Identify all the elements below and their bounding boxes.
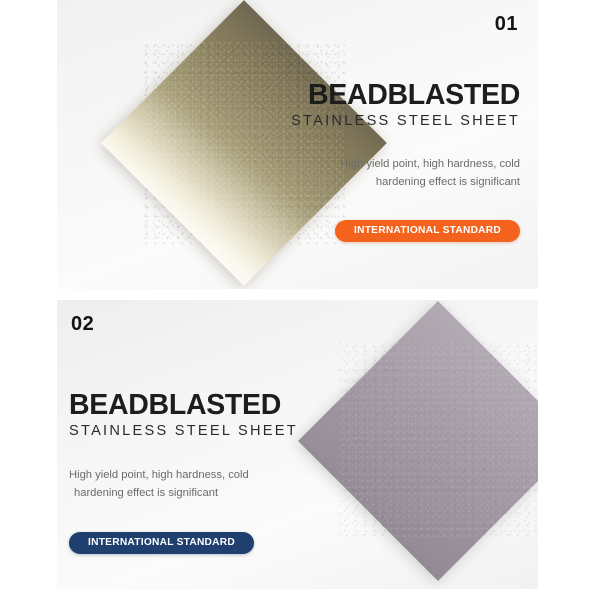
product-description: High yield point, high hardness, cold ha… — [210, 155, 520, 191]
panel-02-text-block: 02 BEADBLASTED STAINLESS STEEL SHEET Hig… — [69, 314, 389, 554]
description-line-2: hardening effect is significant — [69, 484, 389, 502]
panel-02-badge-row: INTERNATIONAL STANDARD — [69, 532, 389, 554]
status-badge-international-standard[interactable]: INTERNATIONAL STANDARD — [335, 220, 520, 242]
product-description: High yield point, high hardness, cold ha… — [69, 466, 389, 502]
page-subtitle: STAINLESS STEEL SHEET — [69, 423, 389, 439]
page-title: BEADBLASTED — [210, 81, 520, 111]
page-subtitle: STAINLESS STEEL SHEET — [210, 113, 520, 129]
panel-index-number: 02 — [71, 314, 389, 334]
panel-01-text-block: 01 BEADBLASTED STAINLESS STEEL SHEET Hig… — [210, 14, 520, 242]
panel-01-badge-row: INTERNATIONAL STANDARD — [210, 220, 520, 242]
description-line-1: High yield point, high hardness, cold — [69, 466, 389, 484]
description-line-2: hardening effect is significant — [210, 173, 520, 191]
status-badge-international-standard[interactable]: INTERNATIONAL STANDARD — [69, 532, 254, 554]
page-title: BEADBLASTED — [69, 391, 389, 421]
product-panel-02: 02 BEADBLASTED STAINLESS STEEL SHEET Hig… — [57, 300, 538, 589]
product-showcase-page: 01 BEADBLASTED STAINLESS STEEL SHEET Hig… — [0, 0, 600, 600]
product-panel-01: 01 BEADBLASTED STAINLESS STEEL SHEET Hig… — [57, 0, 538, 289]
panel-index-number: 01 — [210, 14, 518, 34]
description-line-1: High yield point, high hardness, cold — [210, 155, 520, 173]
